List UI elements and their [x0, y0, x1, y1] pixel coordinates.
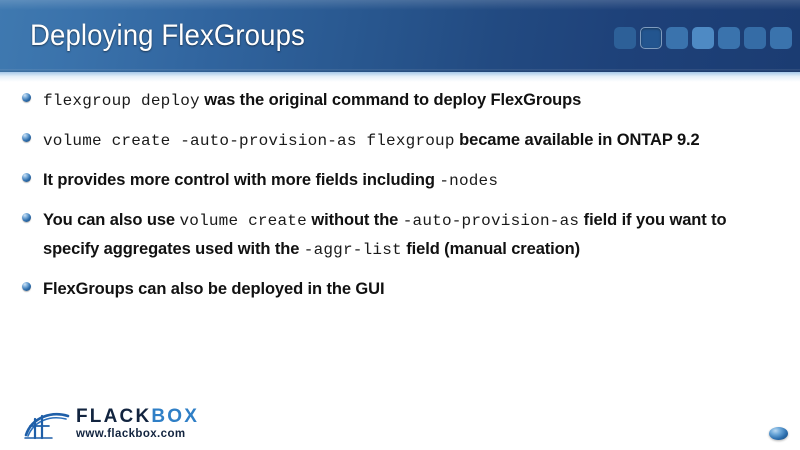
- command-token: flexgroup deploy: [43, 92, 200, 110]
- bullet-more-control-nodes: It provides more control with more field…: [22, 166, 784, 195]
- bullet-sphere-icon: [22, 213, 31, 222]
- header-underglow: [0, 72, 800, 82]
- bullet-text-run: without the: [307, 211, 403, 229]
- bullet-sphere-icon: [22, 282, 31, 291]
- command-token: volume create: [179, 212, 306, 230]
- bullet-sphere-icon: [22, 173, 31, 182]
- bullet-gui-deploy: FlexGroups can also be deployed in the G…: [22, 275, 784, 303]
- bullet-text: flexgroup deploy was the original comman…: [43, 86, 784, 115]
- logo-text-block: FLACKBOX www.flackbox.com: [76, 407, 199, 441]
- flackbox-logo: FLACKBOX www.flackbox.com: [22, 405, 199, 443]
- bullet-text-run: FlexGroups can also be deployed in the G…: [43, 280, 384, 298]
- command-token: -nodes: [439, 172, 498, 190]
- bullet-sphere-icon: [22, 93, 31, 102]
- bullet-text: It provides more control with more field…: [43, 166, 784, 195]
- progress-squares: [614, 27, 792, 49]
- command-token: volume create -auto-provision-as flexgro…: [43, 132, 455, 150]
- bullet-volume-create-auto-provision-as: volume create -auto-provision-as flexgro…: [22, 126, 784, 155]
- progress-square-4[interactable]: [692, 27, 714, 49]
- bullet-text-run: was the original command to deploy FlexG…: [200, 91, 581, 109]
- bullet-text-run: field (manual creation): [402, 240, 580, 258]
- bullet-text-run: became available in ONTAP 9.2: [455, 131, 700, 149]
- bullet-text-run: You can also use: [43, 211, 179, 229]
- progress-square-2[interactable]: [640, 27, 662, 49]
- progress-square-7[interactable]: [770, 27, 792, 49]
- bullet-text-run: It provides more control with more field…: [43, 171, 439, 189]
- progress-square-6[interactable]: [744, 27, 766, 49]
- command-token: -auto-provision-as: [403, 212, 579, 230]
- logo-wordmark: FLACKBOX: [76, 407, 199, 426]
- bullet-text: You can also use volume create without t…: [43, 206, 784, 264]
- progress-square-5[interactable]: [718, 27, 740, 49]
- command-token: -aggr-list: [304, 241, 402, 259]
- logo-word-primary: FLACK: [76, 406, 151, 427]
- bridge-logo-icon: [22, 405, 74, 443]
- slide-canvas: Deploying FlexGroups flexgroup deploy wa…: [0, 0, 800, 450]
- logo-url: www.flackbox.com: [76, 429, 199, 441]
- page-title: Deploying FlexGroups: [30, 14, 305, 58]
- slide-header: Deploying FlexGroups: [0, 0, 800, 72]
- bullet-sphere-icon: [22, 133, 31, 142]
- bullet-text: volume create -auto-provision-as flexgro…: [43, 126, 784, 155]
- progress-square-3[interactable]: [666, 27, 688, 49]
- bullet-list: flexgroup deploy was the original comman…: [22, 86, 784, 314]
- progress-square-1[interactable]: [614, 27, 636, 49]
- bullet-flexgroup-deploy: flexgroup deploy was the original comman…: [22, 86, 784, 115]
- bullet-volume-create-without-auto-provision: You can also use volume create without t…: [22, 206, 784, 264]
- next-slide-button[interactable]: [769, 427, 788, 440]
- bullet-text: FlexGroups can also be deployed in the G…: [43, 275, 784, 303]
- logo-word-secondary: BOX: [151, 406, 199, 427]
